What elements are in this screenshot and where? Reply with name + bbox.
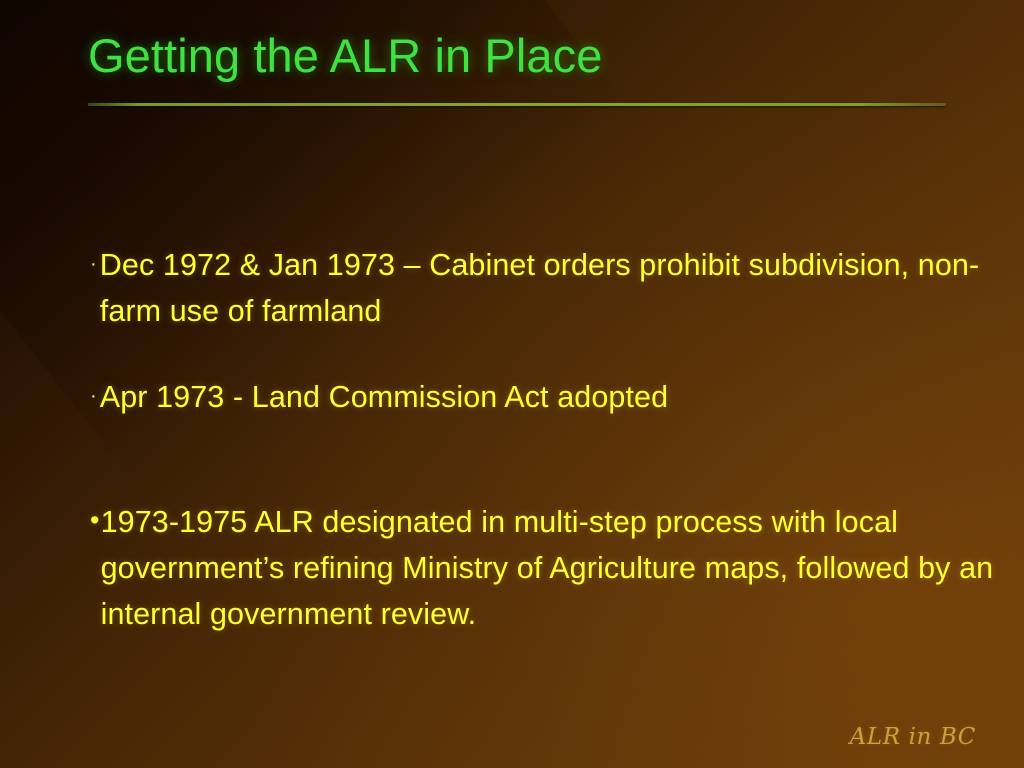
title-block: Getting the ALR in Place	[88, 30, 968, 106]
bullet-item-2: · Apr 1973 - Land Commission Act adopted	[90, 374, 1000, 420]
bullet-text: Apr 1973 - Land Commission Act adopted	[100, 374, 1000, 420]
bullet-marker-icon: ·	[90, 241, 97, 287]
slide-body: · Dec 1972 & Jan 1973 – Cabinet orders p…	[90, 242, 1000, 637]
bullet-marker-icon: ·	[90, 373, 97, 419]
page-title: Getting the ALR in Place	[88, 30, 968, 83]
bullet-item-1: · Dec 1972 & Jan 1973 – Cabinet orders p…	[90, 242, 1000, 334]
bullet-text: Dec 1972 & Jan 1973 – Cabinet orders pro…	[100, 242, 1000, 334]
slide-footer-label: ALR in BC	[850, 724, 976, 750]
bullet-marker-icon: •	[90, 497, 100, 543]
presentation-slide: Getting the ALR in Place · Dec 1972 & Ja…	[0, 0, 1024, 768]
title-divider-rule	[88, 103, 946, 106]
bullet-text: 1973-1975 ALR designated in multi-step p…	[101, 499, 1000, 637]
bullet-item-3: • 1973-1975 ALR designated in multi-step…	[90, 499, 1000, 637]
